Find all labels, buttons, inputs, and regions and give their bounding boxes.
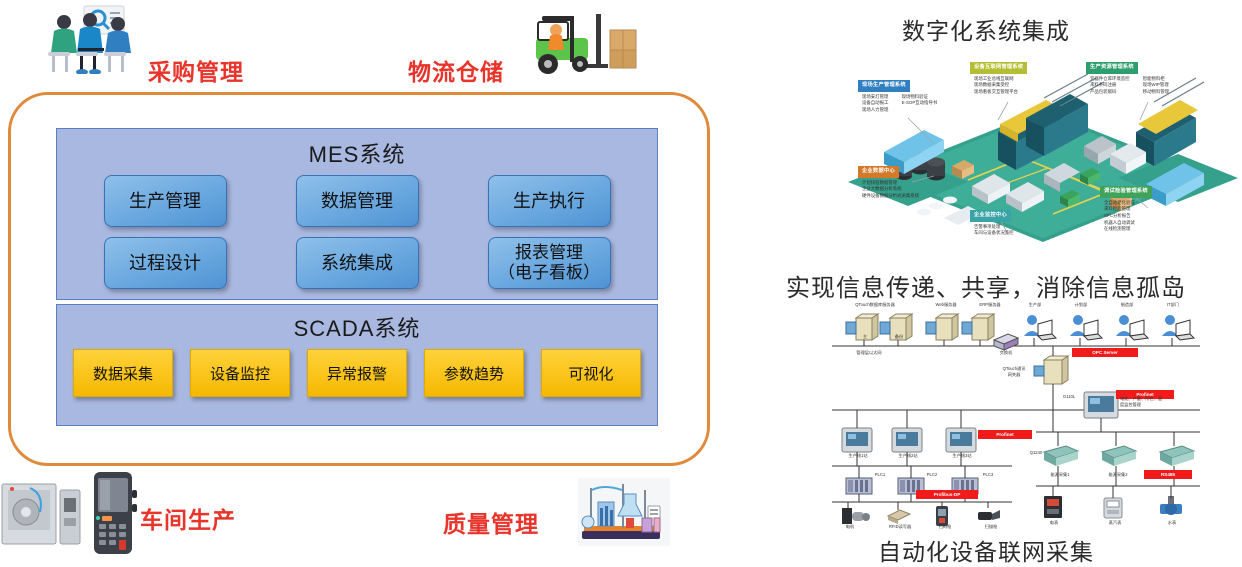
label-quality-management: 质量管理 xyxy=(443,505,539,539)
mes-button-data-mgmt[interactable]: 数据管理 xyxy=(296,175,419,227)
net-label-energy-monitor-note: 电能、产量、所在、温度监控管理 xyxy=(1120,396,1168,407)
net-label-plc1: PLC1 xyxy=(868,472,892,477)
iso-label-enterprise-monitor-center-title: 企业监控中心 xyxy=(970,210,1011,222)
iso-label-enterprise-monitor-center-items: 告警事项处理 车间与设备状况监控 xyxy=(970,222,1030,237)
net-label-management-ethernet: 管理层以太网 xyxy=(834,350,904,356)
iso-item: E-SOP互动指导书 xyxy=(902,100,938,107)
team-meeting-illustration xyxy=(40,4,150,74)
scada-button-alarm[interactable]: 异常报警 xyxy=(307,349,407,397)
iso-label-production-resource-title: 生产资源管理系统 xyxy=(1086,62,1138,74)
net-label-scan-gun: 扫描枪 xyxy=(976,524,1006,530)
net-label-server-primary: 主 xyxy=(856,334,874,340)
scada-row: 数据采集 设备监控 异常报警 参数趋势 可视化 xyxy=(57,349,657,397)
net-label-profinet-2: Profinet xyxy=(978,430,1032,439)
net-label-profibus-dp: Profibus-DP xyxy=(916,490,978,499)
label-procurement: 采购管理 xyxy=(148,53,244,87)
scada-system-band: SCADA系统 数据采集 设备监控 异常报警 参数趋势 可视化 xyxy=(56,304,658,426)
iso-label-production-resource-items: 元器件仓库环境监控 来料条码注册 产品包装赋码 智能物料柜 现场WIP管理 移动… xyxy=(1086,74,1185,96)
iso-label-production-resource: 生产资源管理系统 元器件仓库环境监控 来料条码注册 产品包装赋码 智能物料柜 现… xyxy=(1086,62,1185,96)
iso-item: 产品包装赋码 xyxy=(1090,89,1116,96)
iso-item: 硬件设备数据分析式采集系统 xyxy=(862,193,919,200)
mes-button-production-mgmt[interactable]: 生产管理 xyxy=(104,175,227,227)
net-label-qtouch-gateway: QTouch通讯网关器 xyxy=(992,366,1036,377)
net-label-line-2-station: 生产线2站 xyxy=(888,453,928,459)
net-label-steam-meter: 蒸汽表 xyxy=(1100,520,1130,526)
iso-label-enterprise-data-center-items: 计划排程数据管理 企业大数据分析系统 硬件设备数据分析式采集系统 xyxy=(858,178,935,200)
net-label-qtouch-db-server: QTouch数据库服务器 xyxy=(838,302,912,308)
net-label-erp-server: ERP服务器 xyxy=(966,302,1014,308)
net-label-electricity-meter: 电表 xyxy=(1042,520,1066,526)
net-label-plc2: PLC2 xyxy=(920,472,944,477)
label-workshop-production: 车间生产 xyxy=(140,501,236,535)
forklift-illustration xyxy=(518,8,648,78)
handheld-terminal-illustration xyxy=(88,470,140,556)
automation-network-diagram: QTouch数据库服务器 Web服务器 ERP服务器 生产部 计划部 制造部 I… xyxy=(826,300,1206,528)
net-label-opc-server: OPC Server xyxy=(1072,348,1138,357)
net-label-line-1-station: 生产线1站 xyxy=(838,453,878,459)
iso-item: 现场人力管理 xyxy=(862,107,888,114)
left-architecture-panel: 采购管理 物流仓储 MES系统 生产管理 数据管理 生 xyxy=(0,0,730,561)
net-label-q1240: Q1240 xyxy=(1022,450,1050,455)
iso-label-enterprise-data-center: 企业数据中心 计划排程数据管理 企业大数据分析系统 硬件设备数据分析式采集系统 xyxy=(858,166,935,200)
iso-label-onsite-production-items: 现场安灯管理 设备自动报工 现场人力管理 现场物料验证 E-SOP互动指导书 xyxy=(858,92,953,114)
isometric-factory-diagram: 现场生产管理系统 现场安灯管理 设备自动报工 现场人力管理 现场物料验证 E-S… xyxy=(848,58,1238,258)
net-label-dept-planning: 计划部 xyxy=(1062,302,1100,308)
net-label-line-3-station: 生产线3站 xyxy=(942,453,982,459)
net-label-dept-it: IT部门 xyxy=(1154,302,1192,308)
scada-button-data-collection[interactable]: 数据采集 xyxy=(73,349,173,397)
label-logistics: 物流仓储 xyxy=(408,53,504,87)
heading-information-sharing: 实现信息传递、共享，消除信息孤岛 xyxy=(730,268,1242,303)
net-label-server-backup: 备份 xyxy=(888,334,910,340)
mes-button-production-exec[interactable]: 生产执行 xyxy=(488,175,611,227)
net-label-water-meter: 水表 xyxy=(1160,520,1184,526)
iso-item: SPC分析报告 xyxy=(1104,213,1131,220)
iso-label-enterprise-data-center-title: 企业数据中心 xyxy=(858,166,899,178)
mes-title: MES系统 xyxy=(57,129,657,169)
iso-label-equipment-iot: 设备互联网管理系统 现场工业总线互联网 现场数据采集受控 现场看板交互管理平台 xyxy=(970,62,1034,96)
net-label-energy-collector-1: 能源采集1 xyxy=(1038,472,1082,478)
iso-label-equipment-iot-items: 现场工业总线互联网 现场数据采集受控 现场看板交互管理平台 xyxy=(970,74,1034,96)
net-label-barcode-scanner: 扫码枪 xyxy=(930,524,960,530)
net-label-rs485: RS485 xyxy=(1144,470,1192,479)
mes-button-process-design[interactable]: 过程设计 xyxy=(104,237,227,289)
mes-system-band: MES系统 生产管理 数据管理 生产执行 过程设计 系统集成 报表管理 （电子看… xyxy=(56,128,658,300)
iso-item: 车间与设备状况监控 xyxy=(974,230,1014,237)
net-label-plc3: PLC3 xyxy=(976,472,1000,477)
mes-button-report-mgmt-line1: 报表管理 xyxy=(515,243,583,262)
scada-button-visualization[interactable]: 可视化 xyxy=(541,349,641,397)
machine-cabinet-illustration xyxy=(0,472,86,554)
scada-button-equipment-monitor[interactable]: 设备监控 xyxy=(190,349,290,397)
right-illustration-panel: 数字化系统集成 xyxy=(730,0,1242,561)
iso-label-enterprise-monitor-center: 企业监控中心 告警事项处理 车间与设备状况监控 xyxy=(970,210,1030,237)
mes-button-report-mgmt-line2: （电子看板） xyxy=(498,263,600,282)
iso-label-debug-inspection-title: 调试检验管理系统 xyxy=(1100,186,1152,198)
iso-label-onsite-production: 现场生产管理系统 现场安灯管理 设备自动报工 现场人力管理 现场物料验证 E-S… xyxy=(858,80,953,114)
net-label-rfid-reader: RFID读写器 xyxy=(880,524,920,530)
iso-item: 移动物料管理 xyxy=(1143,89,1169,96)
iso-label-debug-inspection: 调试检验管理系统 全自动老化验证 来料检验管理 SPC分析报告 机器人自动调试 … xyxy=(1100,186,1152,233)
mes-row-1: 生产管理 数据管理 生产执行 xyxy=(57,175,657,227)
mes-button-report-mgmt[interactable]: 报表管理 （电子看板） xyxy=(488,237,611,289)
net-label-g110l: G110L xyxy=(1054,394,1084,399)
mes-row-2: 过程设计 系统集成 报表管理 （电子看板） xyxy=(57,237,657,289)
iso-item: 现场看板交互管理平台 xyxy=(974,89,1018,96)
scada-button-parameter-trend[interactable]: 参数趋势 xyxy=(424,349,524,397)
mes-button-system-integration[interactable]: 系统集成 xyxy=(296,237,419,289)
lab-equipment-illustration xyxy=(578,478,670,546)
net-label-switch: 交换机 xyxy=(990,350,1022,356)
iso-label-equipment-iot-title: 设备互联网管理系统 xyxy=(970,62,1027,74)
scada-title: SCADA系统 xyxy=(57,305,657,343)
iso-item: 在线检测管理 xyxy=(1104,226,1130,233)
iso-label-onsite-production-title: 现场生产管理系统 xyxy=(858,80,910,92)
heading-automation-collection: 自动化设备联网采集 xyxy=(730,533,1242,567)
heading-digital-integration: 数字化系统集成 xyxy=(730,12,1242,46)
iso-label-debug-inspection-items: 全自动老化验证 来料检验管理 SPC分析报告 机器人自动调试 在线检测管理 xyxy=(1100,198,1152,233)
net-label-dept-manufacturing: 制造部 xyxy=(1108,302,1146,308)
net-label-energy-collector-2: 能源采集2 xyxy=(1096,472,1140,478)
net-label-dept-production: 生产部 xyxy=(1016,302,1054,308)
net-label-motor: 电机 xyxy=(836,524,864,530)
net-label-web-server: Web服务器 xyxy=(922,302,970,308)
